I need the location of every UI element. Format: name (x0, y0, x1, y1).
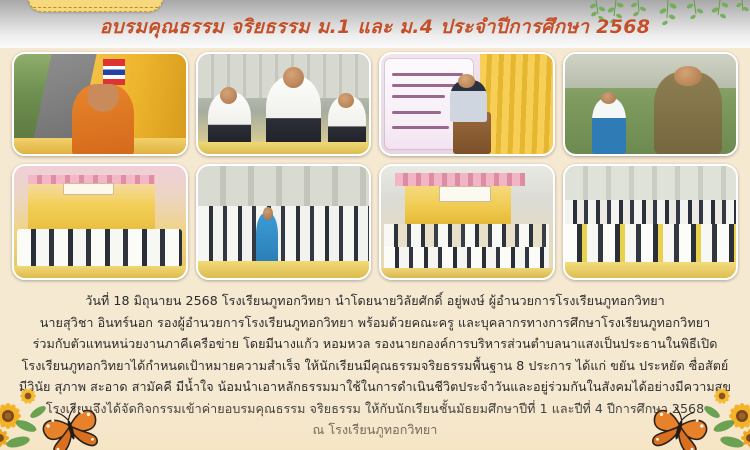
photo-gallery: monk speaking into microphone at altar w… (12, 52, 738, 284)
header-bar: อบรมคุณธรรม จริยธรรม ม.1 และ ม.4 ประจำปี… (0, 0, 750, 48)
gallery-photo-8[interactable]: officials and students standing together… (563, 164, 739, 280)
gallery-photo-4[interactable]: officer in brown uniform speaking with m… (563, 52, 739, 156)
photo-caption: officer in brown uniform speaking with m… (565, 153, 737, 154)
photo-caption: monk speaking into microphone at altar w… (14, 153, 186, 154)
body-line-5: มีวินัย สุภาพ สะอาด สามัคคี มีน้ำใจ น้อม… (0, 376, 750, 398)
photo-caption: group photograph of students and staff i… (381, 277, 553, 278)
gallery-photo-1[interactable]: monk speaking into microphone at altar w… (12, 52, 188, 156)
poster-root: อบรมคุณธรรม จริยธรรม ม.1 และ ม.4 ประจำปี… (0, 0, 750, 450)
gallery-photo-5[interactable]: assembly hall with decorated stage and s… (12, 164, 188, 280)
gallery-photo-2[interactable]: men in white shirts kneeling with hands … (196, 52, 372, 156)
body-line-3: ร่วมกับตัวแทนหน่วยงานภาคีเครือข่าย โดยมี… (0, 333, 750, 355)
photo-caption: assembly hall with decorated stage and s… (14, 277, 186, 278)
page-title: อบรมคุณธรรม จริยธรรม ม.1 และ ม.4 ประจำปี… (0, 12, 750, 42)
photo-caption: student speaking at wooden podium beside… (381, 153, 553, 154)
body-line-4: โรงเรียนภูทอกวิทยาได้กำหนดเป้าหมายความสำ… (0, 355, 750, 377)
header-yellow-tab (28, 0, 163, 12)
photo-caption: officials and students standing together… (565, 277, 737, 278)
gallery-photo-3[interactable]: student speaking at wooden podium beside… (379, 52, 555, 156)
bottom-gradient (0, 398, 750, 450)
gallery-photo-6[interactable]: large crowd of students kneeling on yell… (196, 164, 372, 280)
gallery-photo-7[interactable]: group photograph of students and staff i… (379, 164, 555, 280)
body-line-2: นายสุวิชา อินทร์นอก รองผู้อำนวยการโรงเรี… (0, 312, 750, 334)
photo-caption: large crowd of students kneeling on yell… (198, 277, 370, 278)
body-line-1: วันที่ 18 มิถุนายน 2568 โรงเรียนภูทอกวิท… (0, 290, 750, 312)
photo-caption: men in white shirts kneeling with hands … (198, 153, 370, 154)
